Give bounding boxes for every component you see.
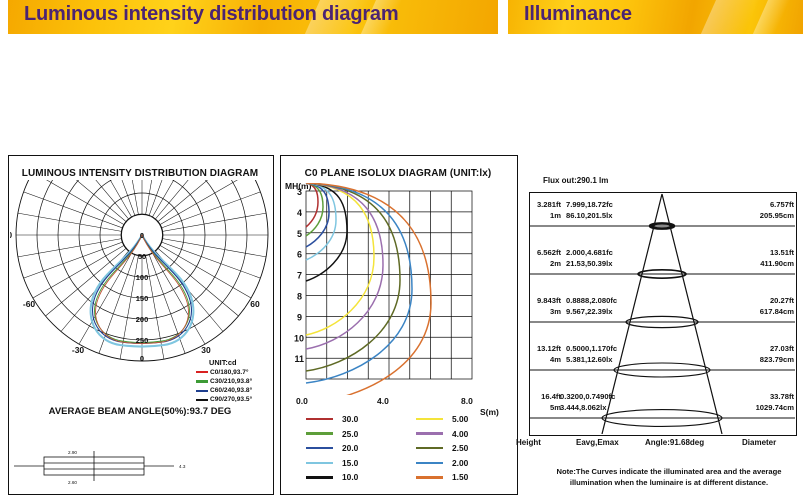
isolux-legend-column-1: 30.0 25.0 20.0 15.0 10.0 (306, 414, 376, 482)
isolux-title: C0 PLANE ISOLUX DIAGRAM (UNIT:lx) (280, 168, 516, 179)
cone-diameter-ft-1: 6.757ft (700, 200, 794, 209)
cone-fc-4: 0.5000,1.170fc (566, 344, 617, 353)
cone-lx-1: 86.10,201.5lx (566, 211, 612, 220)
isolux-xtick-0: 0.0 (296, 396, 308, 406)
isolux-legend-item: 10.0 (306, 472, 376, 482)
polar-title: LUMINOUS INTENSITY DISTRIBUTION DIAGRAM (8, 168, 272, 179)
isolux-legend-item: 1.50 (416, 472, 486, 482)
isolux-legend-item: 15.0 (306, 458, 376, 468)
isolux-legend-item: 4.00 (416, 429, 486, 439)
cone-lx-3: 9.567,22.39lx (566, 307, 612, 316)
cone-diameter-cm-3: 617.84cm (700, 307, 794, 316)
isolux-legend-item: 5.00 (416, 414, 486, 424)
cone-diameter-ft-4: 27.03ft (700, 344, 794, 353)
svg-text:5: 5 (297, 229, 302, 239)
polar-legend: UNIT:cd C0/180,93.7° C30/210,93.8° C60/2… (196, 358, 252, 405)
isolux-legend-column-2: 5.00 4.00 2.50 2.00 1.50 (416, 414, 486, 482)
svg-text:3: 3 (297, 187, 302, 197)
cone-height-ft-4: 13.12ft (515, 344, 561, 353)
svg-text:4: 4 (297, 208, 302, 218)
cone-footer-diameter: Diameter (742, 438, 776, 447)
legend-swatch (196, 390, 208, 392)
cone-diameter-ft-3: 20.27ft (700, 296, 794, 305)
legend-swatch (196, 371, 208, 373)
cone-fc-3: 0.8888,2.080fc (566, 296, 617, 305)
legend-label: C30/210,93.8° (210, 377, 252, 386)
banner-illuminance: Illuminance (508, 0, 803, 34)
cone-height-m-4: 4m (515, 355, 561, 364)
svg-text:2.60: 2.60 (68, 480, 77, 485)
cone-diameter-ft-5: 33.78ft (700, 392, 794, 401)
legend-swatch (416, 418, 443, 420)
cone-diameter-cm-4: 823.79cm (700, 355, 794, 364)
cone-note-line2: illumination when the luminaire is at di… (535, 478, 803, 489)
legend-label: 5.00 (452, 414, 486, 424)
polar-legend-item: C90/270,93.5° (196, 395, 252, 404)
isolux-xtick-2: 8.0 (461, 396, 473, 406)
isolux-chart: 34 56 78 910 11 (286, 183, 514, 395)
isolux-legend-item: 25.0 (306, 429, 376, 439)
svg-text:4.3: 4.3 (179, 464, 186, 469)
legend-swatch (306, 462, 333, 464)
cone-height-m-1: 1m (515, 211, 561, 220)
legend-swatch (416, 476, 443, 478)
legend-swatch (196, 399, 208, 401)
svg-text:6: 6 (297, 250, 302, 260)
legend-label: 1.50 (452, 472, 486, 482)
polar-caption: AVERAGE BEAM ANGLE(50%):93.7 DEG (8, 406, 272, 417)
svg-text:60: 60 (250, 299, 260, 309)
cone-height-m-2: 2m (515, 259, 561, 268)
legend-label: C0/180,93.7° (210, 368, 249, 377)
cone-height-m-5: 5m (515, 403, 561, 412)
svg-text:50: 50 (138, 252, 146, 261)
legend-swatch (306, 476, 333, 478)
cone-footer-eavg: Eavg,Emax (576, 438, 619, 447)
banner-title-right: Illuminance (524, 3, 632, 26)
svg-text:11: 11 (294, 354, 304, 364)
svg-text:-90: -90 (10, 230, 12, 240)
isolux-curve-30 (306, 183, 318, 227)
cone-footer-angle: Angle:91.68deg (645, 438, 704, 447)
legend-swatch (416, 432, 443, 434)
isolux-legend-item: 2.50 (416, 443, 486, 453)
legend-label: 2.00 (452, 458, 486, 468)
svg-text:10: 10 (294, 333, 304, 343)
legend-swatch (306, 418, 333, 420)
legend-label: 10.0 (342, 472, 376, 482)
polar-legend-item: C30/210,93.8° (196, 377, 252, 386)
svg-text:90: 90 (273, 230, 274, 240)
cone-height-ft-2: 6.562ft (515, 248, 561, 257)
svg-text:200: 200 (136, 315, 149, 324)
legend-swatch (196, 380, 208, 382)
legend-label: 25.0 (342, 429, 376, 439)
isolux-legend-item: 2.00 (416, 458, 486, 468)
isolux-legend-item: 30.0 (306, 414, 376, 424)
svg-text:100: 100 (136, 273, 149, 282)
legend-swatch (306, 447, 333, 449)
cone-fc-5: 0.3200,0.7490fc (560, 392, 615, 401)
isolux-legend: 30.0 25.0 20.0 15.0 10.0 5.00 4.00 (306, 414, 486, 482)
svg-text:0: 0 (140, 354, 144, 363)
legend-label: 15.0 (342, 458, 376, 468)
svg-text:150: 150 (136, 294, 149, 303)
svg-text:2.90: 2.90 (68, 450, 77, 455)
cone-fc-2: 2.000,4.681fc (566, 248, 613, 257)
svg-text:-60: -60 (23, 299, 36, 309)
legend-swatch (416, 462, 443, 464)
cone-diameter-cm-2: 411.90cm (700, 259, 794, 268)
cone-fc-1: 7.999,18.72fc (566, 200, 613, 209)
cone-diameter-ft-2: 13.51ft (700, 248, 794, 257)
cone-note: Note:The Curves indicate the illuminated… (535, 467, 803, 488)
legend-label: 30.0 (342, 414, 376, 424)
flux-out-label: Flux out:290.1 lm (543, 176, 608, 185)
cone-note-line1: Note:The Curves indicate the illuminated… (535, 467, 803, 478)
cone-height-ft-3: 9.843ft (515, 296, 561, 305)
svg-text:8: 8 (297, 292, 302, 302)
cone-height-ft-5: 16.4ft (515, 392, 561, 401)
isolux-curve-20 (306, 183, 329, 247)
cone-diameter-cm-5: 1029.74cm (700, 403, 794, 412)
isolux-legend-item: 20.0 (306, 443, 376, 453)
polar-legend-item: C60/240,93.8° (196, 386, 252, 395)
banner-title-left: Luminous intensity distribution diagram (24, 3, 398, 26)
luminaire-dimension-drawing: 2.90 2.60 4.3 (14, 443, 264, 489)
polar-legend-item: C0/180,93.7° (196, 368, 252, 377)
legend-label: 4.00 (452, 429, 486, 439)
svg-text:0: 0 (140, 231, 144, 240)
legend-label: 2.50 (452, 443, 486, 453)
polar-unit-label: UNIT:cd (209, 358, 252, 367)
svg-text:9: 9 (297, 312, 302, 322)
isolux-xtick-1: 4.0 (377, 396, 389, 406)
svg-text:-30: -30 (72, 345, 85, 355)
legend-label: C60/240,93.8° (210, 386, 252, 395)
svg-text:7: 7 (297, 271, 302, 281)
svg-text:30: 30 (201, 345, 211, 355)
banner-luminous-intensity: Luminous intensity distribution diagram (8, 0, 498, 34)
legend-swatch (416, 447, 443, 449)
legend-label: C90/270,93.5° (210, 395, 252, 404)
legend-label: 20.0 (342, 443, 376, 453)
legend-swatch (306, 432, 333, 434)
cone-height-ft-1: 3.281ft (515, 200, 561, 209)
cone-diameter-cm-1: 205.95cm (700, 211, 794, 220)
cone-height-m-3: 3m (515, 307, 561, 316)
cone-lx-4: 5.381,12.60lx (566, 355, 612, 364)
cone-lx-5: 3.444,8.062lx (560, 403, 606, 412)
svg-text:250: 250 (136, 336, 149, 345)
cone-footer-height: Height (516, 438, 541, 447)
cone-lx-2: 21.53,50.39lx (566, 259, 612, 268)
